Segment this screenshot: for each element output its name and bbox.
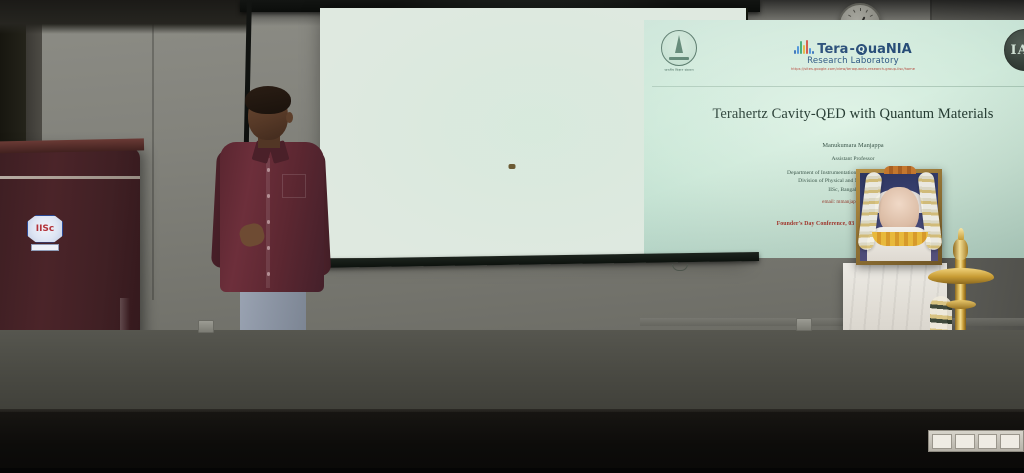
slide-footer-conference: Founder's Day Conference, 03 July 2025, … [644,221,1024,227]
wall-socket-right [796,318,812,331]
iap-logo-icon: IAP [1004,29,1024,71]
emblem-crest-icon: IISc [27,215,63,243]
lamp-mid-ring [946,300,976,309]
wall-hook [509,164,516,169]
author-email: email: mmanjappa@iisc.ac.in [644,199,1024,205]
iap-circular-logo: IAP [1004,29,1024,71]
wall-socket-left [198,320,214,333]
garland-top-section [884,166,916,174]
projected-slide: Tera - Q uaNIA Research Laboratory https… [644,20,1024,258]
baseboard [640,318,1024,326]
logo-word-uania: uaNIA [868,43,912,56]
iap-logo-text: IAP [1011,43,1024,58]
iisc-seal-caption: भारतीय विज्ञान संस्थान [664,68,694,72]
slide-title: Terahertz Cavity-QED with Quantum Materi… [644,106,1024,123]
author-department: Department of Instrumentation and Applie… [644,169,1024,177]
pull-down-projection-screen: Tera - Q uaNIA Research Laboratory https… [320,8,746,258]
slide-header-divider [652,86,1024,87]
institution-emblem: IISc [25,215,65,251]
slide-author-block: Manukumara Manjappa Assistant Professor … [644,142,1024,205]
logo-url: https://sites.google.com/view/teraquania… [791,68,915,72]
speaker-shirt-pocket [282,174,306,198]
speaker-ear [286,112,293,123]
emblem-ribbon [31,244,59,251]
presentation-photo-scene: Tera - Q uaNIA Research Laboratory https… [0,0,1024,473]
spectrum-wave-icon [794,42,816,56]
podium-upper-trim [0,176,140,179]
lamp-finial-tip [958,228,964,240]
logo-word-q: Q [856,44,867,55]
teraquania-wordmark: Tera - Q uaNIA [794,42,911,56]
stage-front-face [0,412,1024,473]
wall-seam-left [152,0,154,300]
author-institute: IISc, Bangalore, India [644,186,1024,194]
speaker-hair [245,86,291,114]
emblem-text: IISc [36,224,55,234]
author-division: Division of Physical and Mathematical Sc… [644,177,1024,185]
author-name: Manukumara Manjappa [644,142,1024,149]
teraquania-logo: Tera - Q uaNIA Research Laboratory https… [791,42,915,72]
lamp-oil-dish [928,268,994,284]
auditorium-floor [0,468,1024,473]
iisc-seal-icon [661,30,697,66]
slide-header: Tera - Q uaNIA Research Laboratory https… [644,28,1024,86]
power-outlet-strip [928,430,1024,452]
lamp-finial-knob [953,238,968,260]
logo-subtitle: Research Laboratory [807,57,899,66]
dark-drape [0,0,250,34]
speaker-shirt [220,142,324,292]
logo-word-tera: Tera [817,43,848,56]
logo-word-dash: - [849,43,854,56]
iisc-seal-logo: भारतीय विज्ञान संस्थान [658,30,700,74]
garland-bottom-loop [872,232,928,246]
author-role: Assistant Professor [644,156,1024,162]
